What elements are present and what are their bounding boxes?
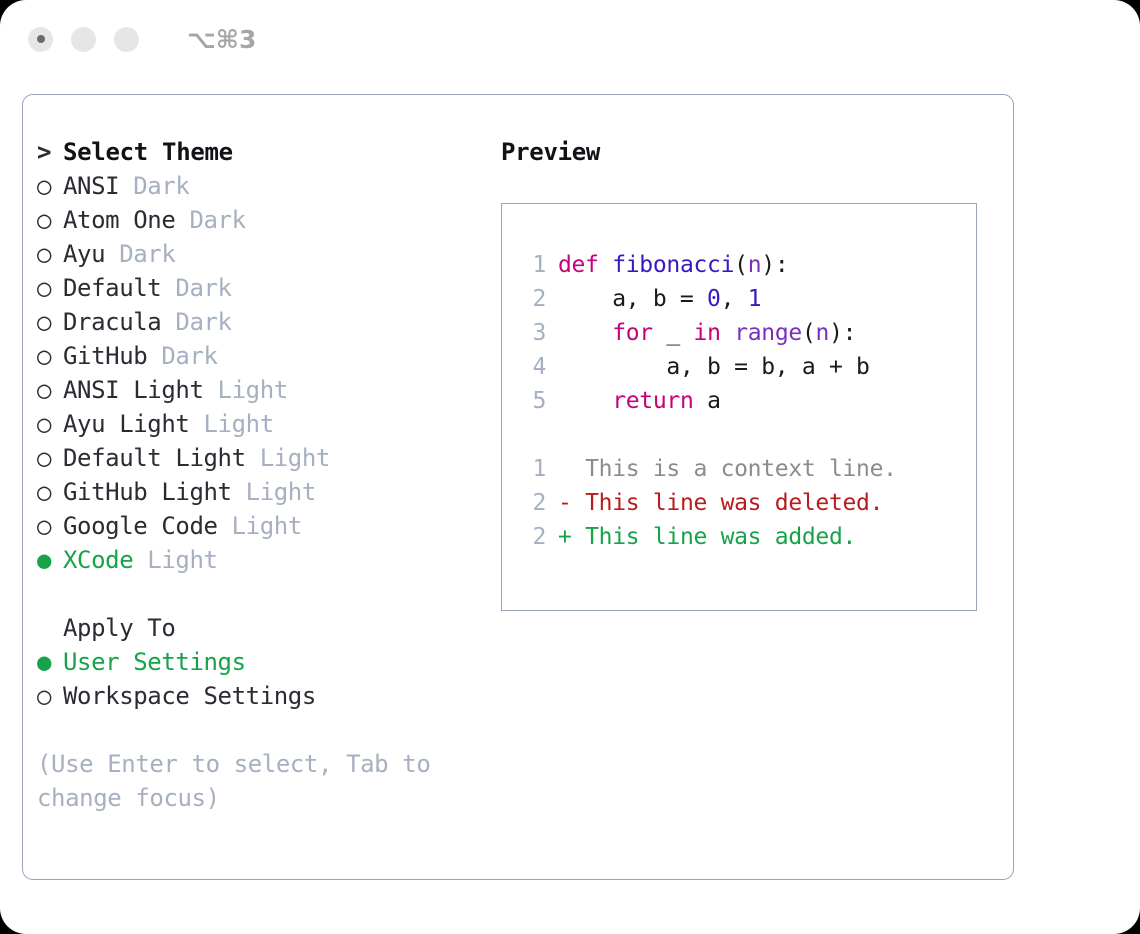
- title-bar: ⌥⌘3: [0, 0, 1140, 78]
- apply-to-header: ○Apply To: [37, 611, 492, 645]
- code-token-plain: ):: [829, 320, 856, 346]
- apply-to-title: Apply To: [63, 614, 175, 642]
- apply-to-indent: ○: [37, 611, 63, 645]
- theme-option-ayu[interactable]: ○Ayu Dark: [37, 237, 492, 271]
- code-token-plain: ):: [761, 252, 788, 278]
- theme-option-label: Default: [63, 274, 161, 302]
- theme-selector-column: >Select Theme ○ANSI Dark○Atom One Dark○A…: [37, 135, 492, 815]
- code-line: 4 a, b = b, a + b: [502, 350, 976, 384]
- theme-variant-badge: Dark: [147, 342, 217, 370]
- code-token-plain: [558, 320, 612, 346]
- diff-text: This line was deleted.: [572, 490, 884, 516]
- keyboard-hint-text: (Use Enter to select, Tab to change focu…: [37, 747, 457, 815]
- code-token-fn: fibonacci: [612, 252, 734, 278]
- theme-variant-badge: Light: [204, 376, 288, 404]
- diff-sign: +: [558, 524, 572, 550]
- theme-variant-badge: Light: [232, 478, 316, 506]
- theme-option-label: Default Light: [63, 444, 246, 472]
- radio-unselected-icon: ○: [37, 305, 63, 339]
- theme-list: ○ANSI Dark○Atom One Dark○Ayu Dark○Defaul…: [37, 169, 492, 577]
- theme-variant-badge: Light: [246, 444, 330, 472]
- code-token-var: range: [734, 320, 802, 346]
- line-number: 1: [520, 248, 546, 282]
- record-indicator-button[interactable]: [28, 27, 53, 52]
- radio-unselected-icon: ○: [37, 509, 63, 543]
- diff-line-del: 2- This line was deleted.: [502, 486, 976, 520]
- theme-option-label: ANSI Light: [63, 376, 204, 404]
- radio-unselected-icon: ○: [37, 441, 63, 475]
- radio-unselected-icon: ○: [37, 203, 63, 237]
- theme-option-label: XCode: [63, 546, 133, 574]
- radio-unselected-icon: ○: [37, 271, 63, 305]
- theme-option-default-light[interactable]: ○Default Light Light: [37, 441, 492, 475]
- window-button-second[interactable]: [71, 27, 96, 52]
- radio-selected-icon: ●: [37, 645, 63, 679]
- code-line: 5 return a: [502, 384, 976, 418]
- diff-sample: 1 This is a context line.2- This line wa…: [502, 452, 976, 554]
- code-token-kw: for: [612, 320, 653, 346]
- code-preview-box: 1def fibonacci(n):2 a, b = 0, 13 for _ i…: [501, 203, 977, 611]
- theme-option-label: Dracula: [63, 308, 161, 336]
- preview-column: Preview 1def fibonacci(n):2 a, b = 0, 13…: [501, 135, 1001, 611]
- radio-unselected-icon: ○: [37, 373, 63, 407]
- header-prompt-icon: >: [37, 135, 63, 169]
- line-number: 5: [520, 384, 546, 418]
- theme-option-label: Google Code: [63, 512, 218, 540]
- code-token-num: 0: [707, 286, 721, 312]
- line-number: 3: [520, 316, 546, 350]
- theme-variant-badge: Dark: [175, 206, 245, 234]
- preview-title: Preview: [501, 135, 1001, 169]
- diff-text: This is a context line.: [572, 456, 897, 482]
- theme-option-label: ANSI: [63, 172, 119, 200]
- radio-unselected-icon: ○: [37, 407, 63, 441]
- theme-option-label: Ayu Light: [63, 410, 189, 438]
- theme-option-label: GitHub: [63, 342, 147, 370]
- code-token-kw: in: [694, 320, 721, 346]
- diff-sign: [558, 456, 572, 482]
- theme-variant-badge: Dark: [161, 274, 231, 302]
- code-token-plain: [694, 388, 708, 414]
- record-dot-icon: [37, 35, 45, 43]
- apply-to-option-user-settings[interactable]: ●User Settings: [37, 645, 492, 679]
- code-token-plain: (: [802, 320, 816, 346]
- line-number: 2: [520, 282, 546, 316]
- window-button-third[interactable]: [114, 27, 139, 52]
- theme-variant-badge: Light: [189, 410, 273, 438]
- section-spacer: [37, 577, 492, 611]
- theme-option-xcode[interactable]: ●XCode Light: [37, 543, 492, 577]
- radio-unselected-icon: ○: [37, 475, 63, 509]
- code-token-plain: [721, 320, 735, 346]
- apply-to-options: ●User Settings○Workspace Settings: [37, 645, 492, 713]
- code-sample: 1def fibonacci(n):2 a, b = 0, 13 for _ i…: [502, 248, 976, 418]
- apply-to-option-workspace-settings[interactable]: ○Workspace Settings: [37, 679, 492, 713]
- theme-option-github[interactable]: ○GitHub Dark: [37, 339, 492, 373]
- line-number: 4: [520, 350, 546, 384]
- radio-selected-icon: ●: [37, 543, 63, 577]
- code-token-plain: (: [734, 252, 748, 278]
- radio-unselected-icon: ○: [37, 169, 63, 203]
- app-window: ⌥⌘3 >Select Theme ○ANSI Dark○Atom One Da…: [0, 0, 1140, 934]
- select-theme-header: >Select Theme: [37, 135, 492, 169]
- diff-line-add: 2+ This line was added.: [502, 520, 976, 554]
- theme-option-github-light[interactable]: ○GitHub Light Light: [37, 475, 492, 509]
- diff-sign: -: [558, 490, 572, 516]
- apply-to-option-label: User Settings: [63, 648, 246, 676]
- code-diff-spacer: [502, 418, 976, 452]
- theme-option-label: Ayu: [63, 240, 105, 268]
- main-panel: >Select Theme ○ANSI Dark○Atom One Dark○A…: [22, 94, 1014, 880]
- theme-option-atom-one[interactable]: ○Atom One Dark: [37, 203, 492, 237]
- code-token-plain: [558, 388, 612, 414]
- line-number: 1: [520, 452, 546, 486]
- code-token-plain: _: [653, 320, 694, 346]
- radio-unselected-icon: ○: [37, 237, 63, 271]
- theme-option-ansi-light[interactable]: ○ANSI Light Light: [37, 373, 492, 407]
- theme-variant-badge: Light: [133, 546, 217, 574]
- theme-option-ansi[interactable]: ○ANSI Dark: [37, 169, 492, 203]
- theme-option-label: Atom One: [63, 206, 175, 234]
- code-token-var: n: [816, 320, 830, 346]
- code-token-num: 1: [748, 286, 762, 312]
- radio-unselected-icon: ○: [37, 679, 63, 713]
- diff-text: This line was added.: [572, 524, 857, 550]
- theme-option-label: GitHub Light: [63, 478, 232, 506]
- line-number: 2: [520, 520, 546, 554]
- apply-to-option-label: Workspace Settings: [63, 682, 316, 710]
- code-token-kw: return: [612, 388, 693, 414]
- theme-option-google-code[interactable]: ○Google Code Light: [37, 509, 492, 543]
- theme-variant-badge: Dark: [105, 240, 175, 268]
- keyboard-shortcut-label: ⌥⌘3: [187, 25, 256, 54]
- theme-variant-badge: Dark: [119, 172, 189, 200]
- code-line: 2 a, b = 0, 1: [502, 282, 976, 316]
- radio-unselected-icon: ○: [37, 339, 63, 373]
- theme-option-default[interactable]: ○Default Dark: [37, 271, 492, 305]
- code-line: 3 for _ in range(n):: [502, 316, 976, 350]
- code-token-plain: a: [707, 388, 721, 414]
- code-token-plain: a, b =: [558, 286, 707, 312]
- traffic-light-buttons: [28, 27, 139, 52]
- diff-line-ctx: 1 This is a context line.: [502, 452, 976, 486]
- theme-option-ayu-light[interactable]: ○Ayu Light Light: [37, 407, 492, 441]
- code-line: 1def fibonacci(n):: [502, 248, 976, 282]
- select-theme-title: Select Theme: [63, 138, 233, 166]
- theme-variant-badge: Dark: [161, 308, 231, 336]
- code-token-plain: ,: [721, 286, 748, 312]
- code-token-kw: def: [558, 252, 612, 278]
- line-number: 2: [520, 486, 546, 520]
- theme-option-dracula[interactable]: ○Dracula Dark: [37, 305, 492, 339]
- code-token-var: n: [748, 252, 762, 278]
- theme-variant-badge: Light: [218, 512, 302, 540]
- code-token-plain: a, b = b, a + b: [558, 354, 870, 380]
